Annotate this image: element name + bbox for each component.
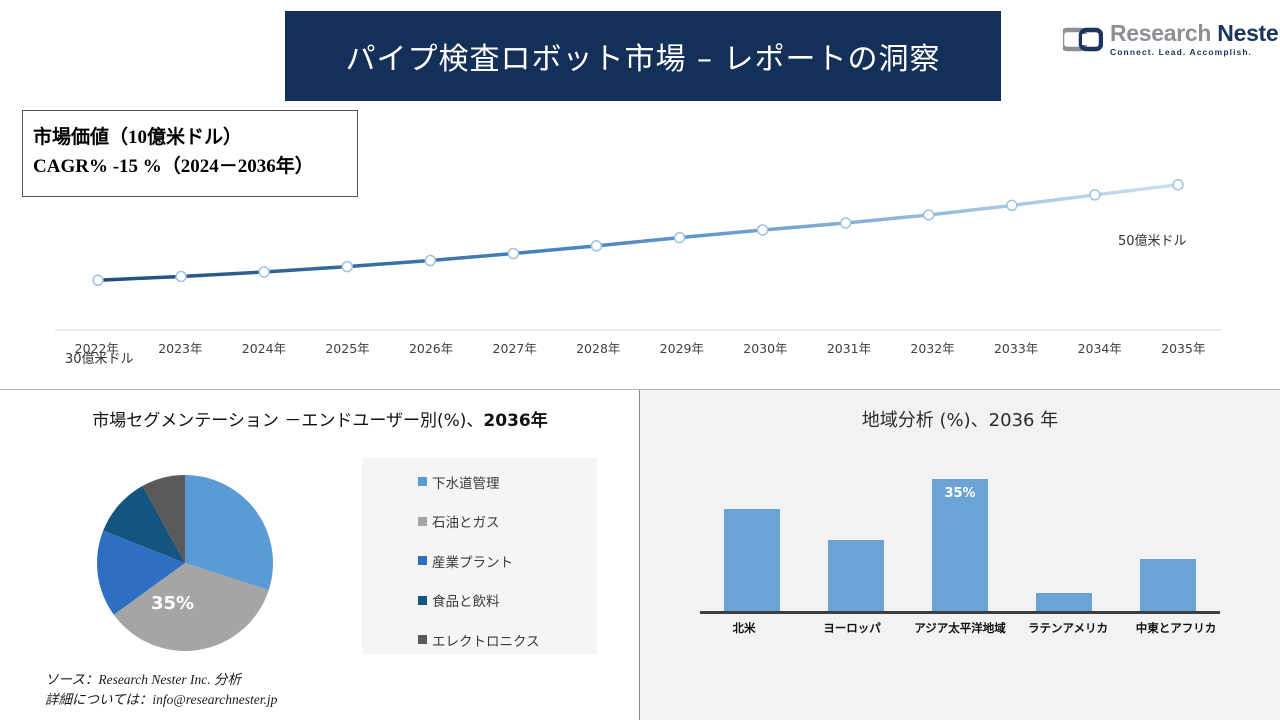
legend-item-label: エレクトロニクス [432, 630, 540, 650]
line-series [98, 185, 1178, 281]
pie-chart: 35% [95, 473, 275, 653]
pie-chart-title: 市場セグメンテーション －エンドユーザー別(%)、2036年 [30, 408, 610, 434]
logo-name-part1: Research [1110, 20, 1211, 46]
bar-data-label: 35% [932, 486, 988, 501]
legend-item-label: 産業プラント [432, 551, 513, 571]
line-marker [425, 256, 435, 266]
legend-item-label: 食品と飲料 [432, 590, 500, 610]
legend-swatch-icon [418, 596, 427, 605]
bar-column [1116, 460, 1220, 612]
pie-chart-svg [95, 473, 275, 653]
line-marker [841, 218, 851, 228]
logo-text: Research Nester Connect. Lead. Accomplis… [1110, 22, 1280, 57]
line-marker [758, 225, 768, 235]
bar-column [804, 460, 908, 612]
source-note: ソース：Research Nester Inc. 分析 詳細については：info… [45, 670, 277, 711]
x-axis-tick-label: 2022年 [55, 338, 139, 357]
bar-category-label: ラテンアメリカ [1014, 620, 1122, 636]
line-marker [1090, 190, 1100, 200]
x-axis-tick-label: 2031年 [807, 338, 891, 357]
bar[interactable] [724, 509, 780, 612]
legend-item[interactable]: エレクトロニクス [362, 620, 597, 660]
legend-item[interactable]: 食品と飲料 [362, 581, 597, 621]
legend-swatch-icon [418, 477, 427, 486]
bar-category-label: アジア太平洋地域 [906, 620, 1014, 636]
line-marker [342, 262, 352, 272]
pie-title-line2: 2036年 [483, 411, 547, 431]
x-axis-tick-label: 2029年 [640, 338, 724, 357]
legend-swatch-icon [418, 556, 427, 565]
x-axis-tick-label: 2033年 [974, 338, 1058, 357]
line-marker [508, 249, 518, 259]
line-markers [93, 180, 1183, 286]
legend-item[interactable]: 産業プラント [362, 541, 597, 581]
page-header: パイプ検査ロボット市場 – レポートの洞察 Research Nester Co… [0, 0, 1280, 103]
logo-tagline: Connect. Lead. Accomplish. [1110, 48, 1280, 57]
line-marker [93, 275, 103, 285]
source-line-2: 詳細については：info@researchnester.jp [45, 690, 277, 710]
line-end-annotation: 50億米ドル [1118, 230, 1187, 249]
logo-title: Research Nester [1110, 22, 1280, 45]
bar-chart-x-axis: 北米ヨーロッパアジア太平洋地域ラテンアメリカ中東とアフリカ [690, 620, 1230, 636]
line-marker [176, 271, 186, 281]
bar[interactable] [828, 540, 884, 612]
x-axis-tick-label: 2028年 [556, 338, 640, 357]
x-axis-tick-label: 2030年 [724, 338, 808, 357]
x-axis-tick-label: 2024年 [222, 338, 306, 357]
bar-chart-title: 地域分析 (%)、2036 年 [640, 406, 1280, 432]
pie-title-line1: 市場セグメンテーション －エンドユーザー別(%)、 [92, 411, 483, 431]
x-axis-tick-label: 2034年 [1058, 338, 1142, 357]
page-title: パイプ検査ロボット市場 – レポートの洞察 [345, 34, 940, 78]
x-axis-tick-label: 2026年 [389, 338, 473, 357]
regional-analysis-panel: 地域分析 (%)、2036 年 35% 北米ヨーロッパアジア太平洋地域ラテンアメ… [640, 390, 1280, 720]
logo-name-part2: Nester [1217, 20, 1280, 46]
link-chain-icon [1063, 24, 1103, 55]
bar-column [1012, 460, 1116, 612]
line-marker [1007, 200, 1017, 210]
title-banner: パイプ検査ロボット市場 – レポートの洞察 [285, 11, 1001, 101]
bar-chart-axis [700, 611, 1220, 614]
x-axis-tick-label: 2035年 [1142, 338, 1226, 357]
legend-item-label: 石油とガス [432, 511, 500, 531]
x-axis-tick-label: 2027年 [473, 338, 557, 357]
x-axis-tick-label: 2023年 [139, 338, 223, 357]
line-marker [591, 241, 601, 251]
line-marker [675, 233, 685, 243]
line-marker [924, 210, 934, 220]
bar-category-label: 北米 [690, 620, 798, 636]
legend-item-label: 下水道管理 [432, 472, 500, 492]
line-chart-x-axis: 2022年2023年2024年2025年2026年2027年2028年2029年… [55, 338, 1225, 357]
bar[interactable] [1036, 593, 1092, 612]
source-line-1: ソース：Research Nester Inc. 分析 [45, 670, 277, 690]
x-axis-tick-label: 2032年 [891, 338, 975, 357]
bar-chart-plot: 35% [700, 460, 1220, 612]
bar[interactable]: 35% [932, 479, 988, 612]
bar-category-label: ヨーロッパ [798, 620, 906, 636]
line-marker [259, 267, 269, 277]
bar-column: 35% [908, 460, 1012, 612]
market-value-line-chart: 30億米ドル 50億米ドル 2022年2023年2024年2025年2026年2… [0, 100, 1280, 375]
legend-item[interactable]: 下水道管理 [362, 462, 597, 502]
legend-item[interactable]: 石油とガス [362, 502, 597, 542]
legend-swatch-icon [418, 517, 427, 526]
x-axis-tick-label: 2025年 [306, 338, 390, 357]
bar[interactable] [1140, 559, 1196, 612]
bar-column [700, 460, 804, 612]
brand-logo: Research Nester Connect. Lead. Accomplis… [1063, 16, 1280, 62]
legend-swatch-icon [418, 635, 427, 644]
bar-category-label: 中東とアフリカ [1122, 620, 1230, 636]
line-marker [1173, 180, 1183, 190]
pie-legend: 下水道管理石油とガス産業プラント食品と飲料エレクトロニクス [362, 458, 597, 654]
line-chart-svg [0, 100, 1280, 375]
